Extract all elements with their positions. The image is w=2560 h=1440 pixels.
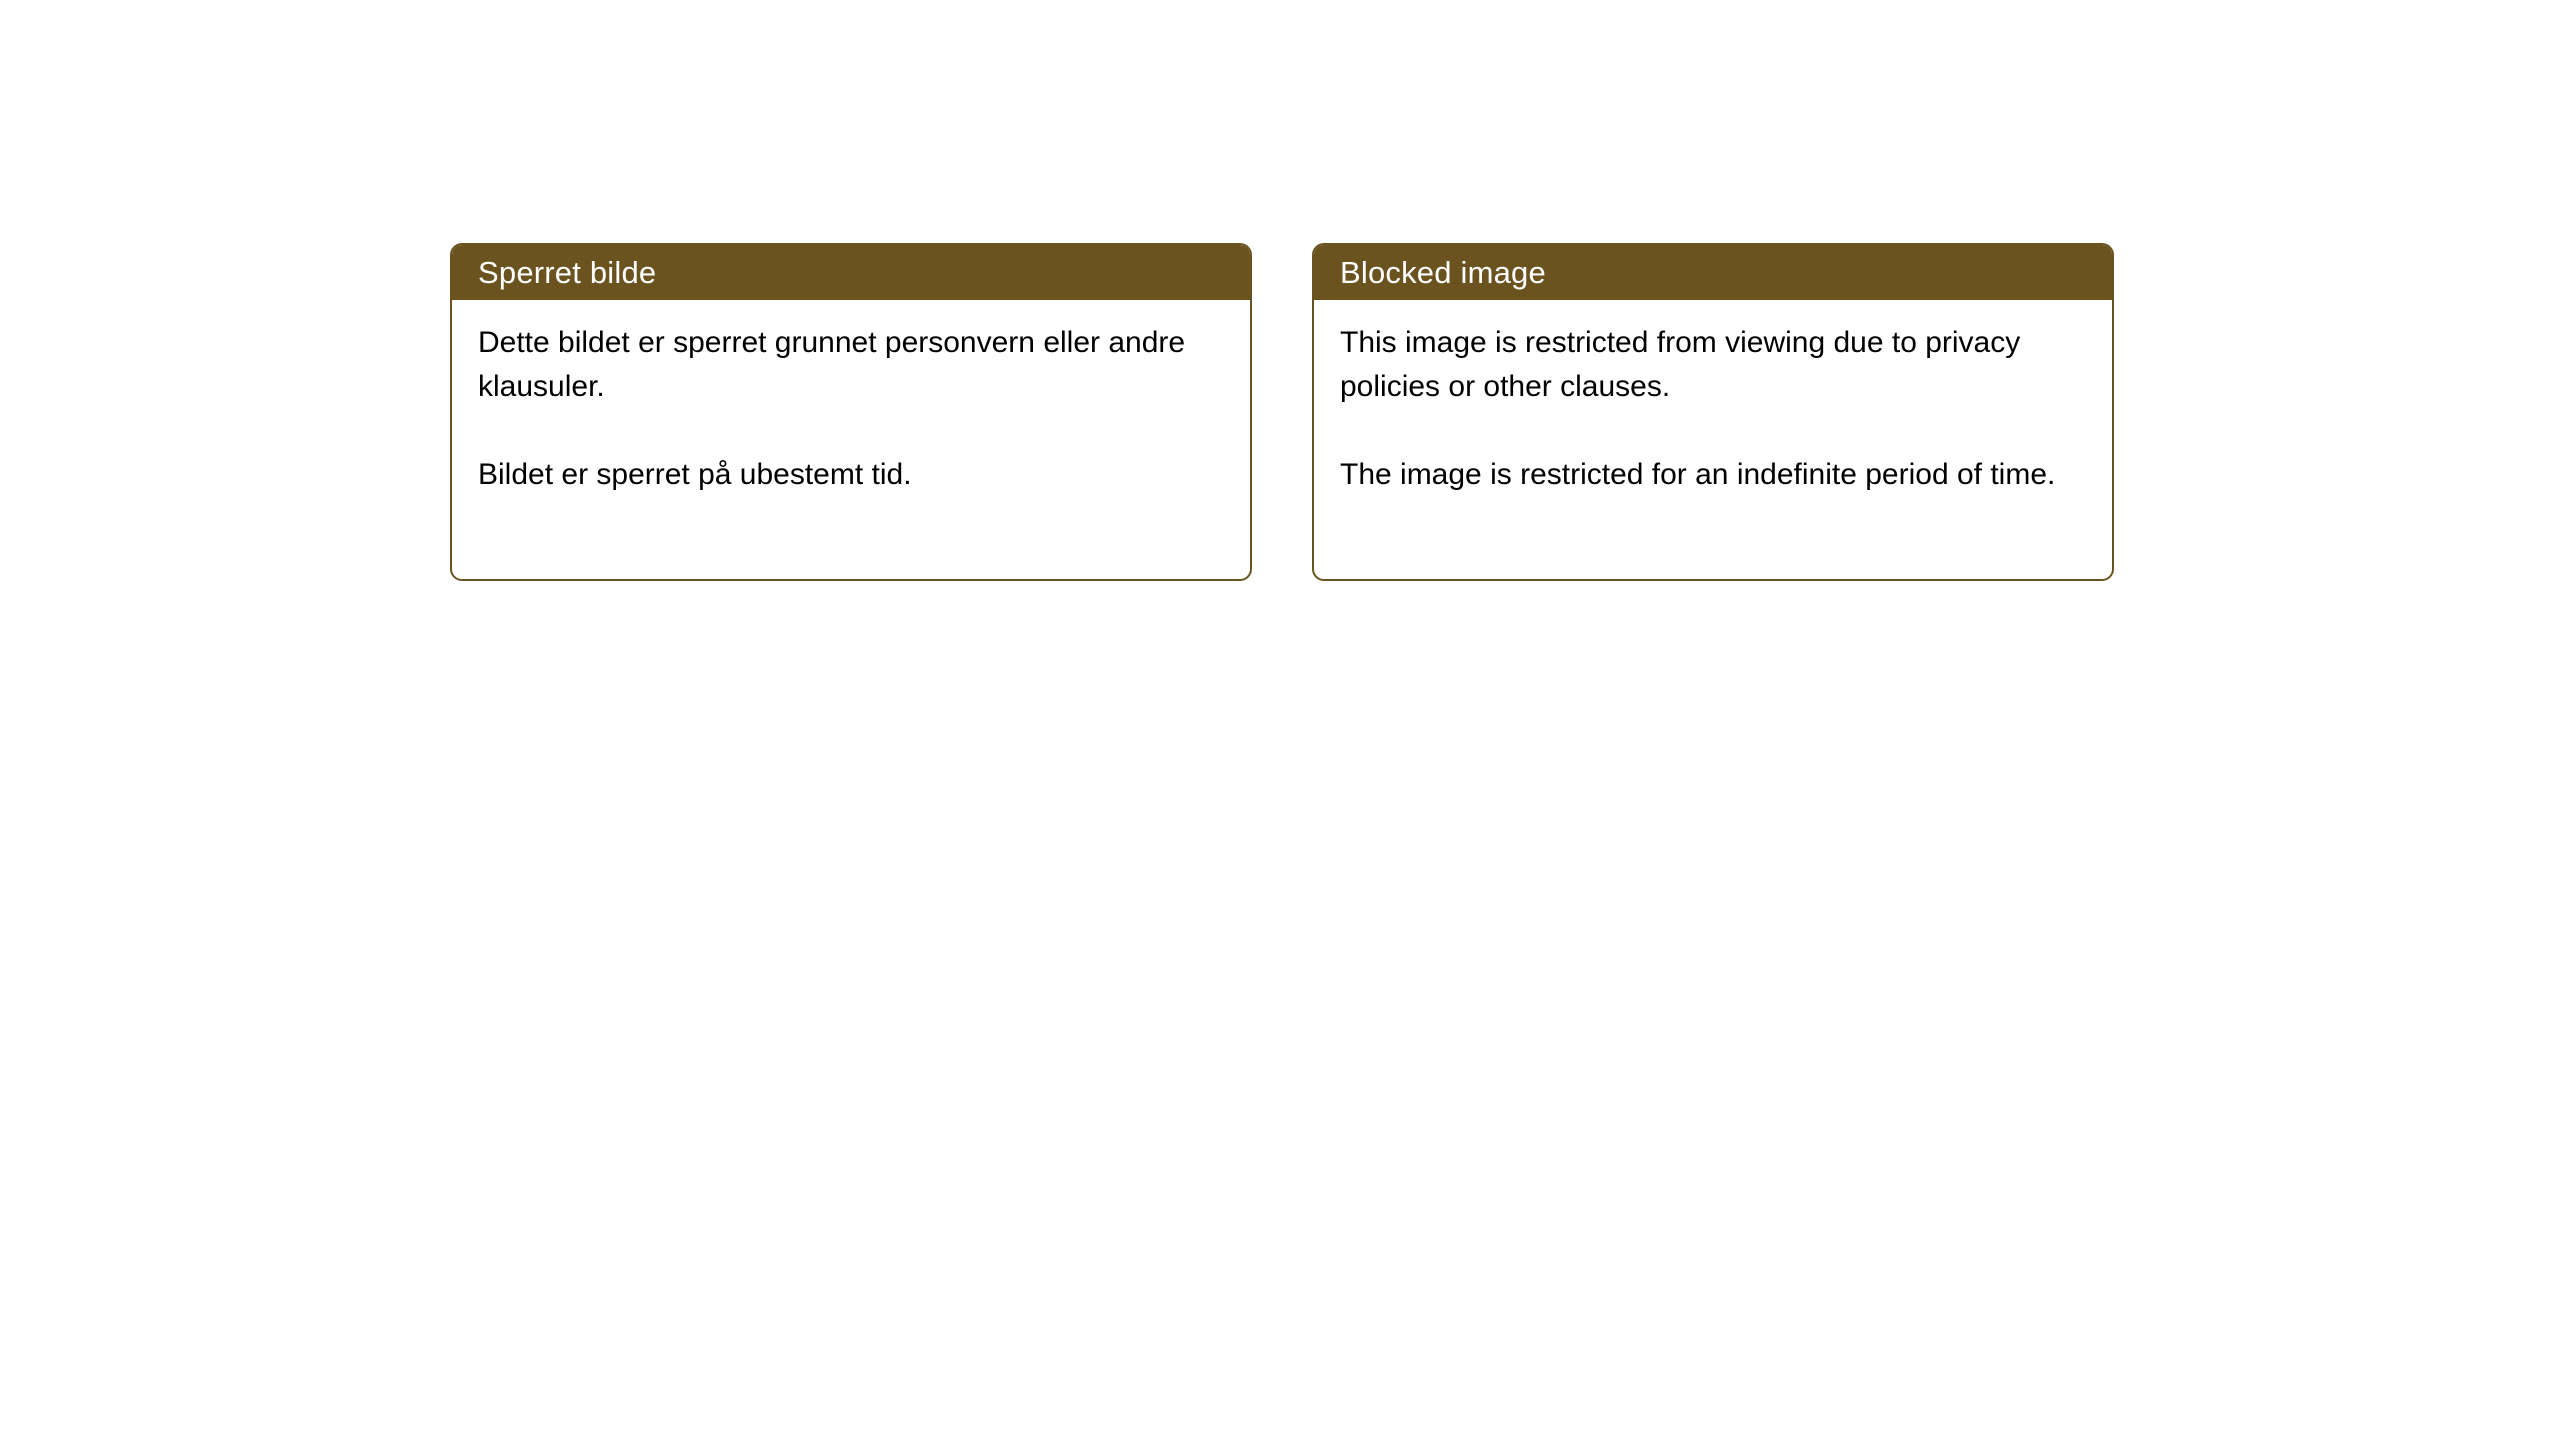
card-title-en: Blocked image xyxy=(1340,257,1546,288)
page-root: Sperret bilde Dette bildet er sperret gr… xyxy=(0,0,2560,1440)
blocked-image-notice-no: Sperret bilde Dette bildet er sperret gr… xyxy=(450,243,1252,581)
card-body-no: Dette bildet er sperret grunnet personve… xyxy=(452,300,1250,497)
blocked-image-notice-en: Blocked image This image is restricted f… xyxy=(1312,243,2114,581)
card-header-no: Sperret bilde xyxy=(452,245,1250,300)
card-paragraph-reason-no: Dette bildet er sperret grunnet personve… xyxy=(478,321,1220,409)
card-title-no: Sperret bilde xyxy=(478,257,656,288)
card-paragraph-duration-no: Bildet er sperret på ubestemt tid. xyxy=(478,453,1220,497)
card-body-en: This image is restricted from viewing du… xyxy=(1314,300,2112,497)
card-paragraph-duration-en: The image is restricted for an indefinit… xyxy=(1340,453,2082,497)
card-header-en: Blocked image xyxy=(1314,245,2112,300)
card-paragraph-reason-en: This image is restricted from viewing du… xyxy=(1340,321,2082,409)
